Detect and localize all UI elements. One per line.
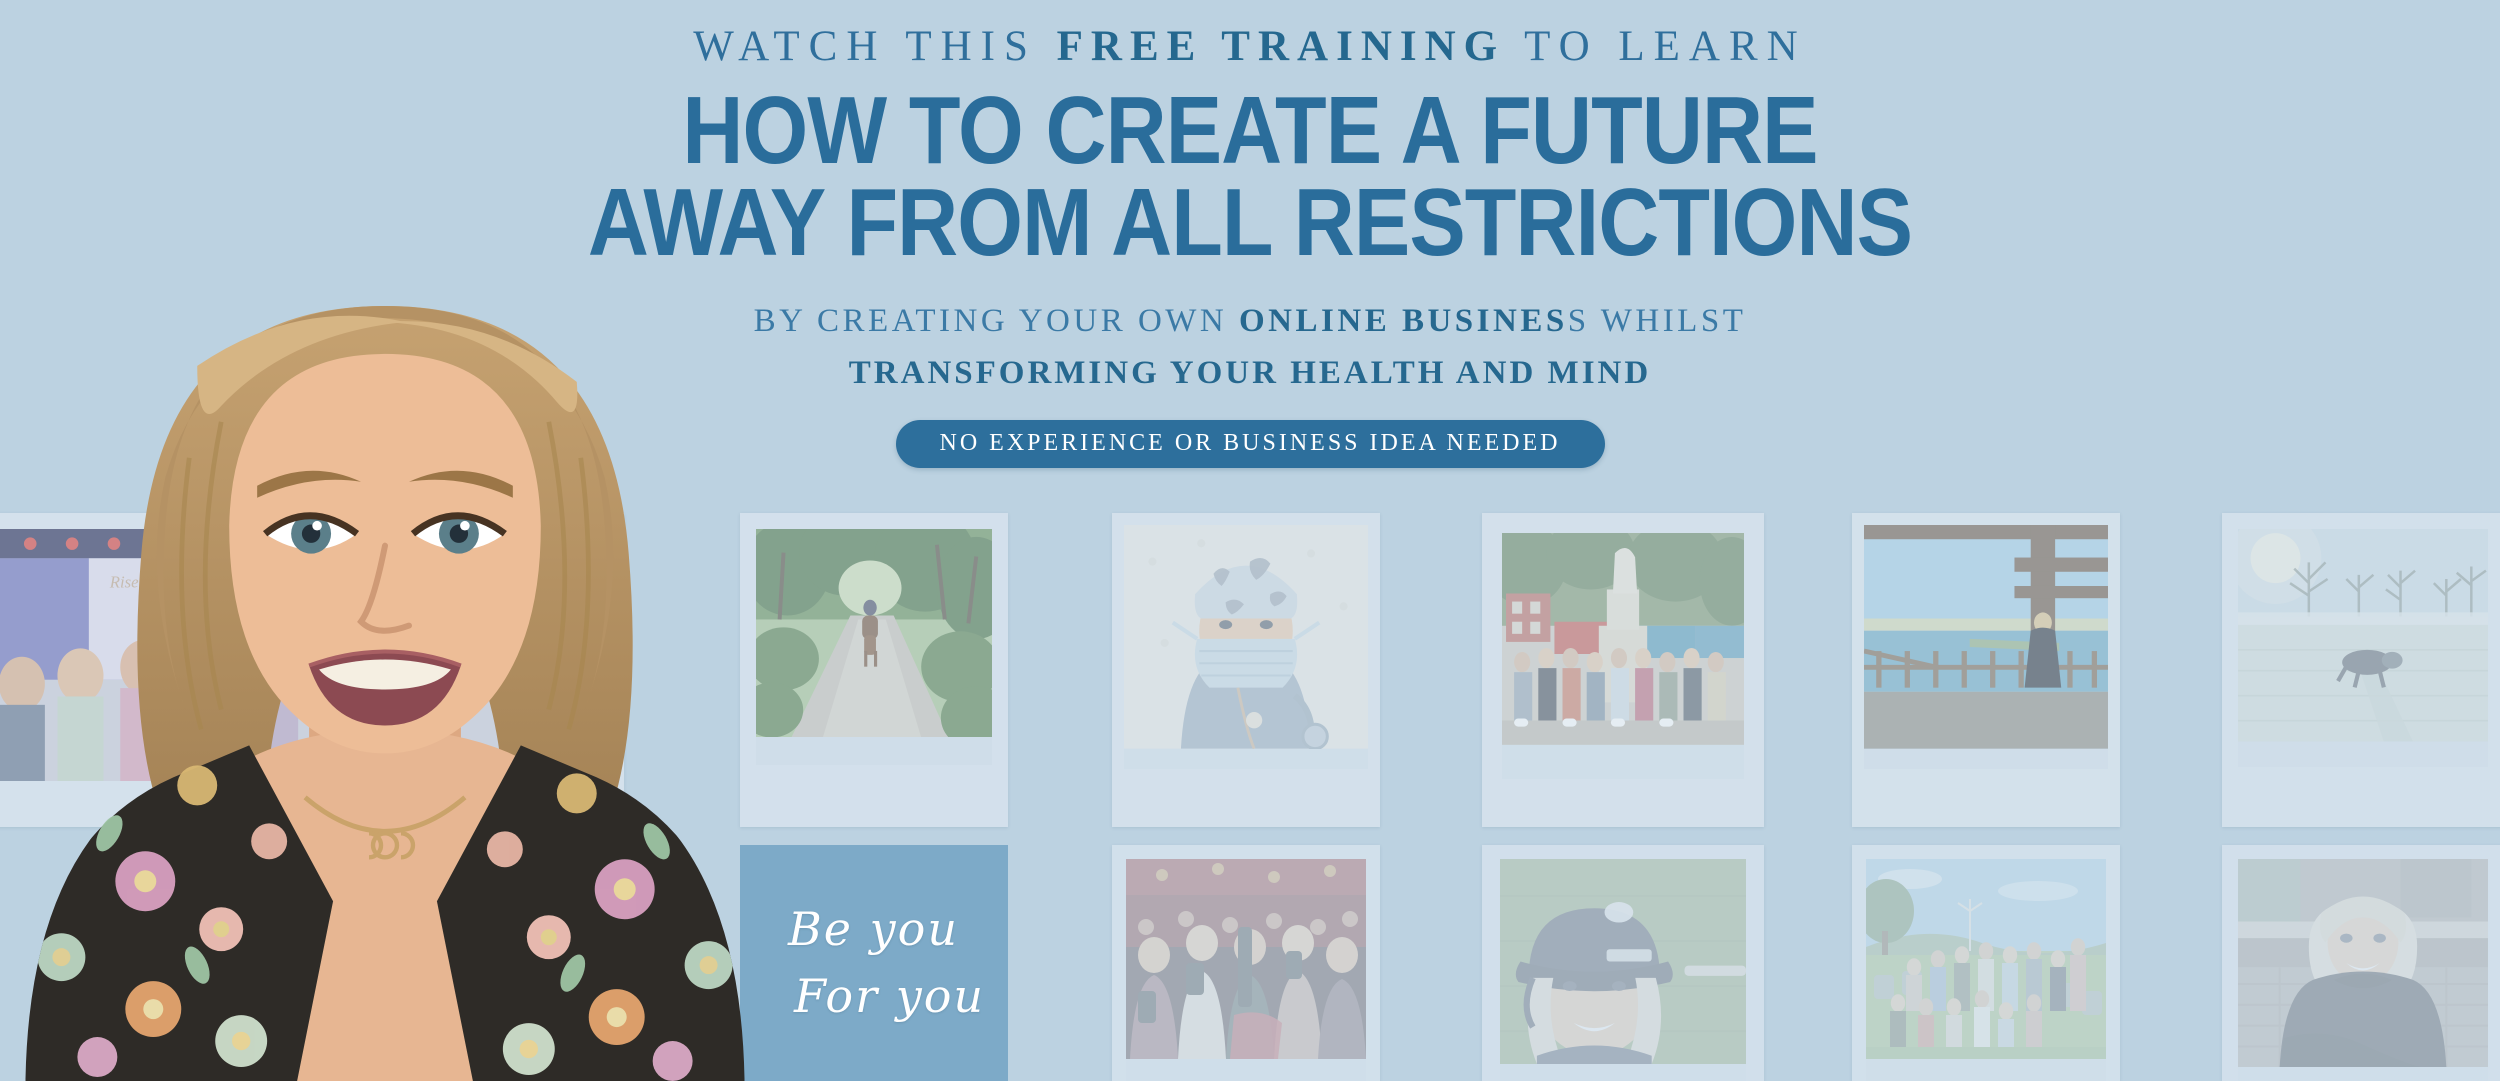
photo-field-group	[1866, 859, 2106, 1081]
scene-field-group	[1866, 859, 2106, 1059]
photo-woodland-ride	[756, 529, 992, 765]
photo-concert-crowd	[1126, 859, 1366, 1081]
polaroid-pier-sea[interactable]	[1852, 513, 2120, 827]
polaroid-frosty-field[interactable]	[2222, 513, 2500, 827]
page-title: HOW TO CREATE A FUTURE AWAY FROM ALL RES…	[150, 85, 2350, 269]
eyebrow-strong: FREE TRAINING	[1057, 23, 1505, 70]
landing-page: RiseRiseRise RiseRiseRise	[0, 0, 2500, 1081]
status-badge[interactable]: NO EXPERIENCE OR BUSINESS IDEA NEEDED	[896, 420, 1605, 468]
polaroid-concert-crowd[interactable]	[1112, 845, 1380, 1081]
eyebrow-line: WATCH THIS FREE TRAINING TO LEARN	[0, 24, 2500, 69]
polaroid-portrait-bench[interactable]	[2222, 845, 2500, 1081]
scene-pier-sea	[1864, 525, 2108, 749]
headline-line-2: AWAY FROM ALL RESTRICTIONS	[150, 177, 2350, 269]
photo-frosty-field	[2238, 529, 2488, 767]
photo-nurse-mask	[1124, 525, 1368, 769]
quote-line-1: Be you	[788, 896, 1008, 963]
polaroid-riding-helmet[interactable]	[1482, 845, 1764, 1081]
scene-riding-helmet	[1500, 859, 1746, 1064]
headline-line-1: HOW TO CREATE A FUTURE	[150, 85, 2350, 177]
eyebrow-before: WATCH THIS	[693, 23, 1056, 70]
photo-pier-sea	[1864, 525, 2108, 769]
eyebrow-after: TO LEARN	[1505, 23, 1807, 70]
quote-tile: Be you For you	[740, 845, 1008, 1081]
subline-after: S WHILST	[1568, 303, 1747, 339]
scene-concert-crowd	[1126, 859, 1366, 1059]
subline-strong: ONLINE BUSINES	[1239, 303, 1568, 339]
scene-city-statue	[1502, 533, 1744, 745]
polaroid-woodland-ride[interactable]	[740, 513, 1008, 827]
polaroid-field-group[interactable]	[1852, 845, 2120, 1081]
photo-city-statue	[1502, 533, 1744, 779]
scene-nurse-mask	[1124, 525, 1368, 749]
polaroid-city-statue[interactable]	[1482, 513, 1764, 827]
scene-woodland-ride	[756, 529, 992, 737]
host-portrait	[5, 298, 765, 1081]
scene-frosty-field	[2238, 529, 2488, 742]
scene-portrait-bench	[2238, 859, 2488, 1067]
quote-line-2: For you	[788, 963, 1008, 1030]
host-portrait-illustration	[5, 298, 765, 1081]
polaroid-nurse-mask[interactable]	[1112, 513, 1380, 827]
photo-portrait-bench	[2238, 859, 2488, 1081]
photo-riding-helmet	[1500, 859, 1746, 1081]
subline-before: BY CREATING YOUR OWN	[754, 303, 1239, 339]
